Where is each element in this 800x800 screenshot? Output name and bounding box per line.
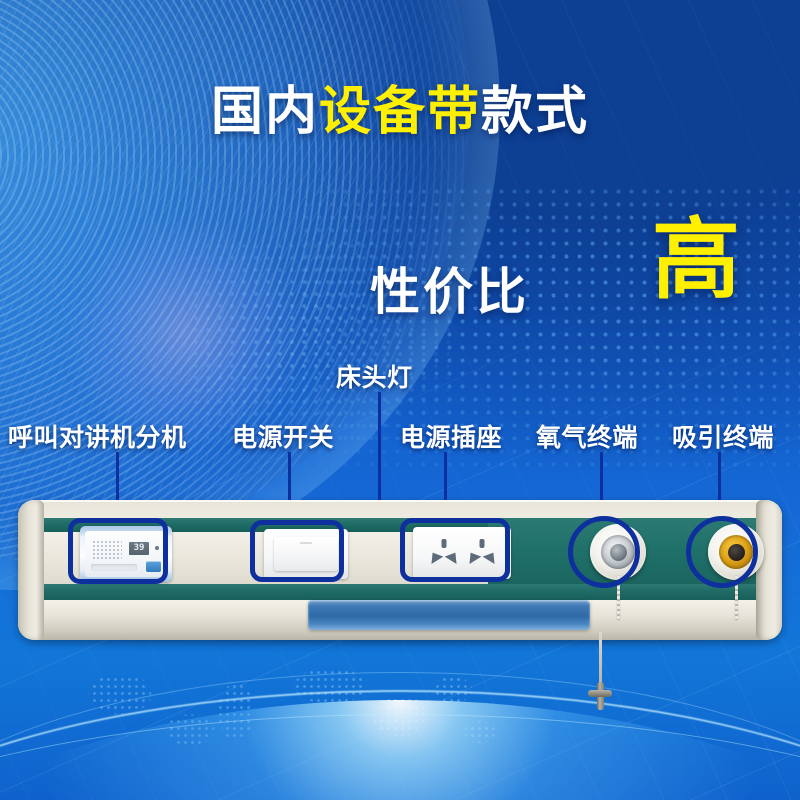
product-banner: 国内设备带款式 性价比 高 呼叫对讲机分机 电源开关 床头灯 电源插座 氧气终端… <box>0 0 800 800</box>
callout-label-switch: 电源开关 <box>232 418 334 454</box>
callout-label-oxygen: 氧气终端 <box>536 418 638 454</box>
headline-block: 国内设备带款式 性价比 高 <box>0 86 800 138</box>
headline-seg-2: 设备带 <box>319 83 481 141</box>
highlight-box-intercom <box>68 518 168 584</box>
bed-lamp-diffuser[interactable] <box>308 600 590 630</box>
pull-cord-weight-horizontal <box>588 690 612 697</box>
panel-end-cap-right <box>756 500 782 640</box>
callout-label-bed-lamp: 床头灯 <box>336 358 413 394</box>
headline-subtext: 性价比 <box>370 252 529 324</box>
panel-end-cap-left <box>18 500 44 640</box>
highlight-circle-suction <box>686 516 758 588</box>
callout-label-suction: 吸引终端 <box>672 418 774 454</box>
headline-emphasis-char: 高 <box>652 216 740 304</box>
highlight-box-switch <box>250 520 344 582</box>
callout-label-intercom: 呼叫对讲机分机 <box>8 418 187 454</box>
panel-stripe-bottom <box>44 584 756 600</box>
headline-line-1: 国内设备带款式 <box>0 86 800 138</box>
highlight-box-socket <box>400 518 510 582</box>
highlight-circle-oxygen <box>568 516 640 588</box>
callout-label-socket: 电源插座 <box>400 418 502 454</box>
headline-seg-3: 款式 <box>481 83 589 141</box>
pull-cord-weight[interactable] <box>588 682 612 710</box>
headline-seg-1: 国内 <box>211 83 319 141</box>
